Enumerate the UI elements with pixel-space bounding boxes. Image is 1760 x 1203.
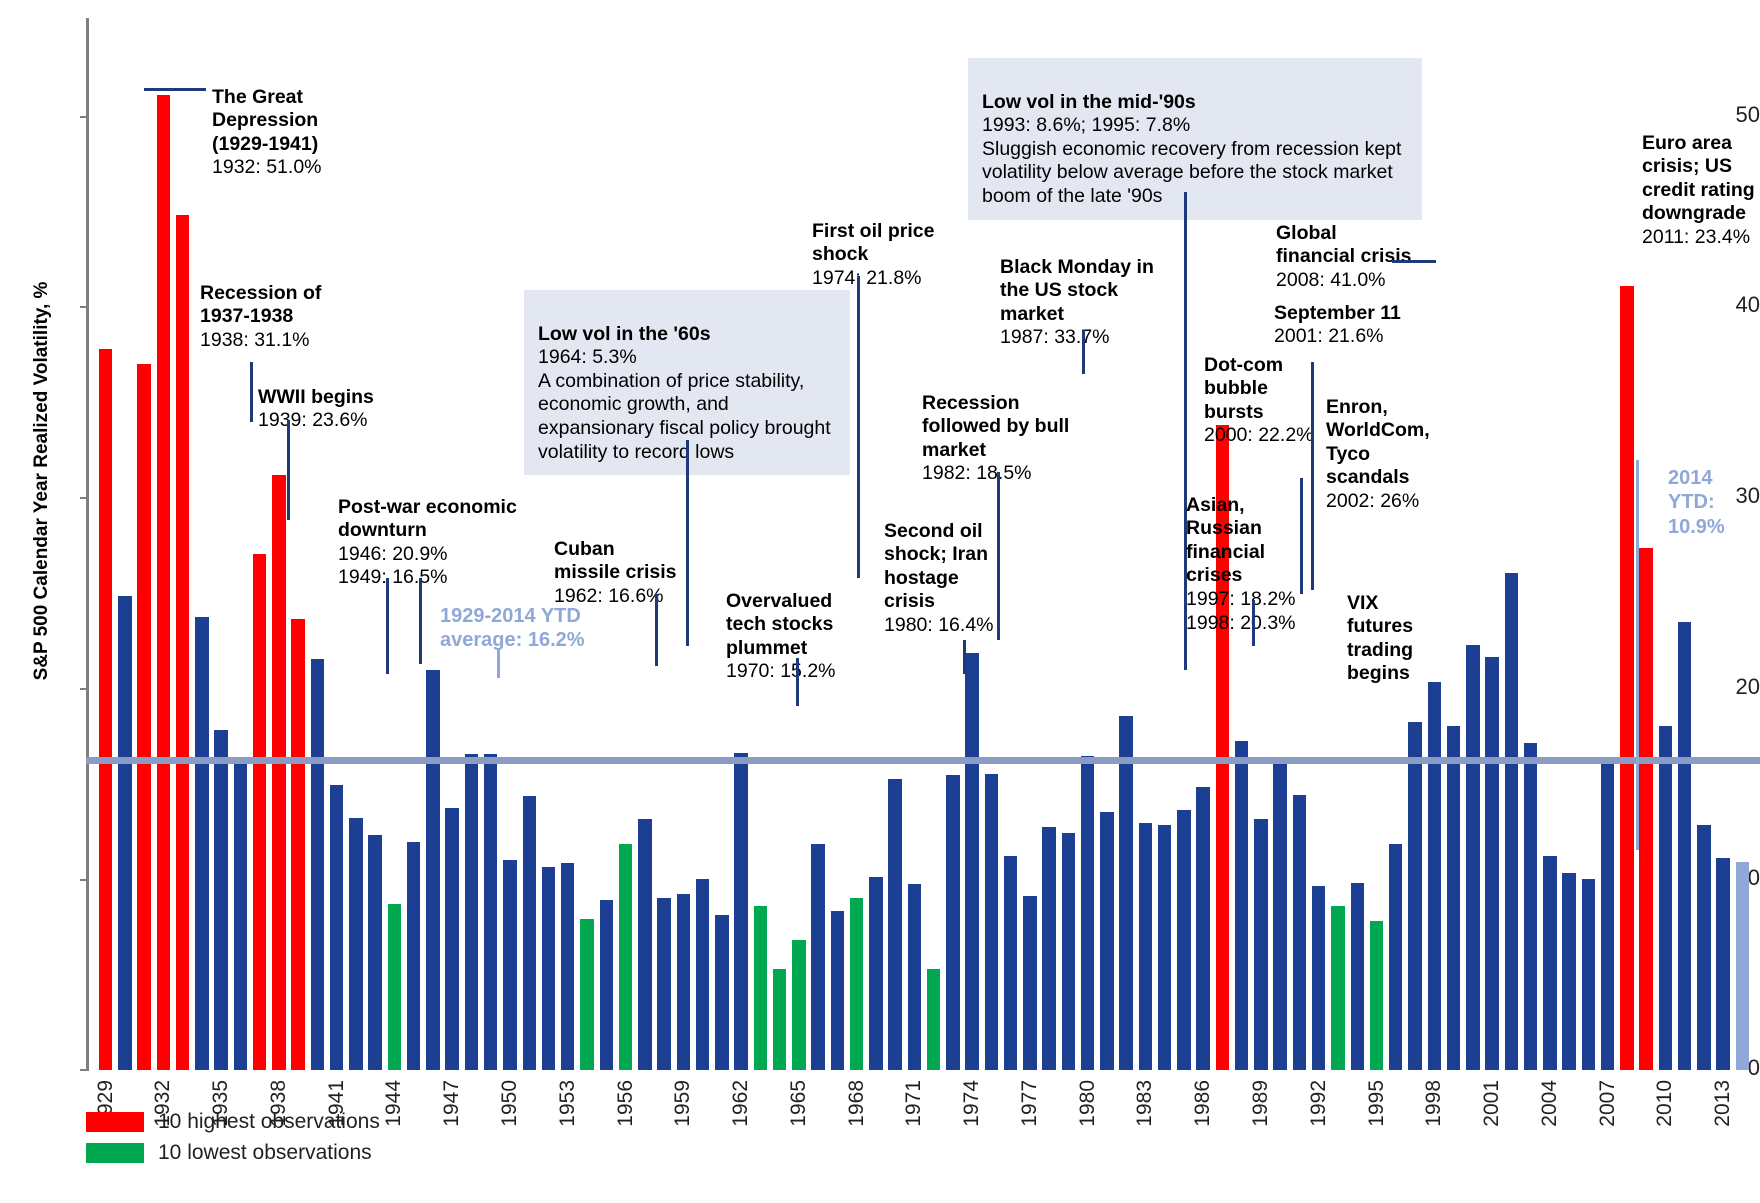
bar-1970 <box>888 779 901 1070</box>
annotation-title: Euro area crisis; US credit rating downg… <box>1642 132 1755 225</box>
average-label: 1929-2014 YTD average: 16.2% <box>440 604 640 653</box>
x-label-1971: 1971 <box>903 1080 924 1127</box>
legend-item-lowest: 10 lowest observations <box>86 1139 380 1166</box>
leader-asian-1997 <box>1252 600 1255 646</box>
legend-label-lowest: 10 lowest observations <box>158 1141 372 1165</box>
bar-1960 <box>696 879 709 1070</box>
bar-1986 <box>1196 787 1209 1070</box>
x-label-1962: 1962 <box>730 1080 751 1127</box>
bar-1992 <box>1312 886 1325 1070</box>
bar-2008 <box>1620 286 1633 1070</box>
annotation-detail: 1997: 18.2% 1998: 20.3% <box>1186 588 1296 634</box>
legend-swatch-lowest <box>86 1143 144 1163</box>
bar-1973 <box>946 775 959 1070</box>
bar-1939 <box>291 619 304 1070</box>
bar-1936 <box>234 760 247 1070</box>
annotation-gfc: Global financial crisis 2008: 41.0% <box>1276 198 1496 292</box>
x-label-1953: 1953 <box>557 1080 578 1127</box>
bar-1938 <box>272 475 285 1070</box>
annotation-title: First oil price shock <box>812 220 934 266</box>
annotation-detail: 2001: 21.6% <box>1274 325 1384 347</box>
ytd-line2: YTD: <box>1668 491 1715 513</box>
bar-1959 <box>677 894 690 1070</box>
annotation-recession-1937: Recession of 1937-1938 1938: 31.1% <box>200 258 400 352</box>
leader-recession-bull <box>997 472 1000 640</box>
bar-1951 <box>523 796 536 1070</box>
x-label-2001: 2001 <box>1481 1080 1502 1127</box>
legend-item-highest: 10 highest observations <box>86 1108 380 1135</box>
bar-1961 <box>715 915 728 1070</box>
bar-1969 <box>869 877 882 1070</box>
bar-2010 <box>1659 726 1672 1070</box>
bar-2007 <box>1601 762 1614 1070</box>
leader-ytd-2014 <box>1636 460 1639 850</box>
annotation-black-monday: Black Monday in the US stock market 1987… <box>1000 232 1200 350</box>
annotation-cuban: Cuban missile crisis 1962: 16.6% <box>554 514 754 608</box>
bar-1954 <box>580 919 593 1070</box>
leader-dotcom <box>1300 478 1303 594</box>
annotation-detail: 1938: 31.1% <box>200 329 310 351</box>
average-line <box>86 757 1760 764</box>
x-label-1980: 1980 <box>1077 1080 1098 1127</box>
annotation-detail: 1982: 18.5% <box>922 462 1032 484</box>
bar-1952 <box>542 867 555 1070</box>
annotation-title: Second oil shock; Iran hostage crisis <box>884 520 988 613</box>
bar-1985 <box>1177 810 1190 1070</box>
x-label-1989: 1989 <box>1250 1080 1271 1127</box>
annotation-detail: 1970: 15.2% <box>726 660 836 682</box>
y-axis-title: S&P 500 Calendar Year Realized Volatilit… <box>31 271 53 691</box>
annotation-lowvol-90s: Low vol in the mid-'90s 1993: 8.6%; 1995… <box>968 58 1422 220</box>
annotation-detail: 1993: 8.6%; 1995: 7.8% Sluggish economic… <box>982 114 1401 207</box>
chart-page: S&P 500 Calendar Year Realized Volatilit… <box>0 0 1760 1203</box>
annotation-title: WWII begins <box>258 386 374 408</box>
bar-1944 <box>388 904 401 1070</box>
bar-1966 <box>811 844 824 1070</box>
x-label-1992: 1992 <box>1308 1080 1329 1127</box>
bar-1998 <box>1428 682 1441 1070</box>
ytd-line3: 10.9% <box>1668 516 1725 538</box>
bar-1989 <box>1254 819 1267 1070</box>
bar-1978 <box>1042 827 1055 1070</box>
leader-cuban <box>655 594 658 666</box>
annotation-title: Recession followed by bull market <box>922 392 1069 461</box>
annotation-postwar: Post-war economic downturn 1946: 20.9% 1… <box>338 472 588 590</box>
bar-1971 <box>908 884 921 1070</box>
x-label-2013: 2013 <box>1712 1080 1733 1127</box>
bar-1997 <box>1408 722 1421 1070</box>
annotation-title: Overvalued tech stocks plummet <box>726 590 833 659</box>
x-label-2007: 2007 <box>1597 1080 1618 1127</box>
legend-swatch-highest <box>86 1112 144 1132</box>
annotation-title: September 11 <box>1274 302 1401 324</box>
bar-1935 <box>214 730 227 1070</box>
bar-1980 <box>1081 756 1094 1070</box>
bar-1950 <box>503 860 516 1070</box>
bar-1953 <box>561 863 574 1070</box>
leader-postwar-1946 <box>386 578 389 674</box>
bar-2004 <box>1543 856 1556 1070</box>
bar-1995 <box>1370 921 1383 1070</box>
bar-2011 <box>1678 622 1691 1070</box>
annotation-title: Black Monday in the US stock market <box>1000 256 1154 325</box>
annotation-asian-crisis: Asian, Russian financial crises 1997: 18… <box>1186 470 1316 635</box>
annotation-recession-bull: Recession followed by bull market 1982: … <box>922 368 1122 486</box>
bar-1964 <box>773 969 786 1070</box>
x-label-1959: 1959 <box>672 1080 693 1127</box>
bar-1947 <box>445 808 458 1070</box>
annotation-detail: 1987: 33.7% <box>1000 326 1110 348</box>
leader-wwii <box>287 420 290 520</box>
annotation-title: Dot-com bubble bursts <box>1204 354 1283 423</box>
bar-1931 <box>137 364 150 1070</box>
bar-1996 <box>1389 844 1402 1070</box>
annotation-detail: 1964: 5.3% A combination of price stabil… <box>538 346 831 462</box>
bar-2013 <box>1716 858 1729 1070</box>
annotation-title: VIX futures trading begins <box>1347 592 1413 685</box>
x-label-1998: 1998 <box>1423 1080 1444 1127</box>
legend-label-highest: 10 highest observations <box>158 1110 380 1134</box>
annotation-detail: 1932: 51.0% <box>212 156 322 178</box>
ytd-line1: 2014 <box>1668 467 1713 489</box>
annotation-detail: 2011: 23.4% <box>1642 226 1750 248</box>
x-label-1950: 1950 <box>499 1080 520 1127</box>
annotation-title: Post-war economic downturn <box>338 496 517 542</box>
x-label-1974: 1974 <box>961 1080 982 1127</box>
bar-1993 <box>1331 906 1344 1070</box>
annotation-title: The Great Depression (1929-1941) <box>212 86 318 155</box>
annotation-ytd-2014: 2014 YTD: 10.9% <box>1668 466 1760 539</box>
x-label-1944: 1944 <box>383 1080 404 1127</box>
leader-tech-stocks <box>796 658 799 706</box>
annotation-great-depression: The Great Depression (1929-1941) 1932: 5… <box>212 62 422 180</box>
bar-1967 <box>831 911 844 1070</box>
bar-1929 <box>99 349 112 1070</box>
bar-1977 <box>1023 896 1036 1070</box>
annotation-title: Recession of 1937-1938 <box>200 282 321 328</box>
average-label-line2: average: 16.2% <box>440 629 585 651</box>
annotation-detail: 2000: 22.2% <box>1204 424 1314 446</box>
bar-1984 <box>1158 825 1171 1070</box>
legend: 10 highest observations 10 lowest observ… <box>86 1108 380 1170</box>
leader-sept11 <box>1311 362 1314 590</box>
bar-1948 <box>465 754 478 1070</box>
bar-1968 <box>850 898 863 1070</box>
bar-1941 <box>330 785 343 1070</box>
bar-1999 <box>1447 726 1460 1070</box>
bar-2000 <box>1466 645 1479 1070</box>
annotation-title: Low vol in the '60s <box>538 323 711 345</box>
annotation-detail: 2008: 41.0% <box>1276 269 1386 291</box>
annotation-detail: 1962: 16.6% <box>554 585 664 607</box>
bar-1937 <box>253 554 266 1070</box>
annotation-enron: Enron, WorldCom, Tyco scandals 2002: 26% <box>1326 372 1456 514</box>
annotation-detail: 2002: 26% <box>1326 490 1419 512</box>
bar-1949 <box>484 754 497 1070</box>
bar-1963 <box>754 906 767 1070</box>
bar-1994 <box>1351 883 1364 1070</box>
bar-1983 <box>1139 823 1152 1070</box>
annotation-detail: 1946: 20.9% 1949: 16.5% <box>338 543 448 589</box>
x-label-2004: 2004 <box>1539 1080 1560 1127</box>
x-label-1956: 1956 <box>615 1080 636 1127</box>
bar-1972 <box>927 969 940 1070</box>
bar-1962 <box>734 753 747 1071</box>
bar-1945 <box>407 842 420 1070</box>
x-label-1983: 1983 <box>1134 1080 1155 1127</box>
annotation-title: Low vol in the mid-'90s <box>982 91 1196 113</box>
bar-1955 <box>600 900 613 1070</box>
bar-1933 <box>176 215 189 1070</box>
bar-2014 <box>1736 862 1749 1070</box>
x-label-1986: 1986 <box>1192 1080 1213 1127</box>
x-label-1995: 1995 <box>1366 1080 1387 1127</box>
bar-1979 <box>1062 833 1075 1070</box>
bar-2003 <box>1524 743 1537 1070</box>
bar-1956 <box>619 844 632 1070</box>
bar-2009 <box>1639 548 1652 1070</box>
bar-2012 <box>1697 825 1710 1070</box>
bar-1957 <box>638 819 651 1070</box>
bar-1982 <box>1119 716 1132 1070</box>
bar-2001 <box>1485 657 1498 1070</box>
bar-1930 <box>118 596 131 1070</box>
leader-recession-1937 <box>250 362 253 422</box>
annotation-detail: 1980: 16.4% <box>884 614 994 636</box>
annotation-title: Asian, Russian financial crises <box>1186 494 1265 587</box>
bar-1965 <box>792 940 805 1070</box>
leader-black-monday <box>1082 330 1085 374</box>
leader-first-oil <box>857 276 860 578</box>
bar-1943 <box>368 835 381 1070</box>
annotation-title: Cuban missile crisis <box>554 538 677 584</box>
bar-1975 <box>985 774 998 1070</box>
bar-1990 <box>1273 762 1286 1070</box>
x-label-2010: 2010 <box>1654 1080 1675 1127</box>
x-label-1947: 1947 <box>441 1080 462 1127</box>
bar-1940 <box>311 659 324 1070</box>
bar-1988 <box>1235 741 1248 1070</box>
annotation-vix: VIX futures trading begins <box>1347 568 1467 686</box>
bar-2006 <box>1582 879 1595 1070</box>
bar-1934 <box>195 617 208 1070</box>
x-label-1965: 1965 <box>788 1080 809 1127</box>
leader-gfc <box>1392 260 1436 263</box>
x-label-1968: 1968 <box>846 1080 867 1127</box>
annotation-detail: 1939: 23.6% <box>258 409 368 431</box>
annotation-euro-crisis: Euro area crisis; US credit rating downg… <box>1642 108 1760 250</box>
leader-second-oil <box>963 640 966 674</box>
bar-1942 <box>349 818 362 1070</box>
x-label-1977: 1977 <box>1019 1080 1040 1127</box>
annotation-second-oil: Second oil shock; Iran hostage crisis 19… <box>884 496 1064 638</box>
leader-postwar-1949 <box>419 578 422 664</box>
bar-1974 <box>965 653 978 1070</box>
bar-1946 <box>426 670 439 1070</box>
bar-1958 <box>657 898 670 1070</box>
annotation-title: Enron, WorldCom, Tyco scandals <box>1326 396 1430 489</box>
bar-1932 <box>157 95 170 1070</box>
leader-great-depression <box>144 88 206 91</box>
bar-1981 <box>1100 812 1113 1070</box>
leader-average-label <box>497 648 500 678</box>
annotation-detail: 1974: 21.8% <box>812 267 922 289</box>
bar-1991 <box>1293 795 1306 1070</box>
bar-2005 <box>1562 873 1575 1070</box>
bar-2002 <box>1505 573 1518 1070</box>
bar-1976 <box>1004 856 1017 1070</box>
